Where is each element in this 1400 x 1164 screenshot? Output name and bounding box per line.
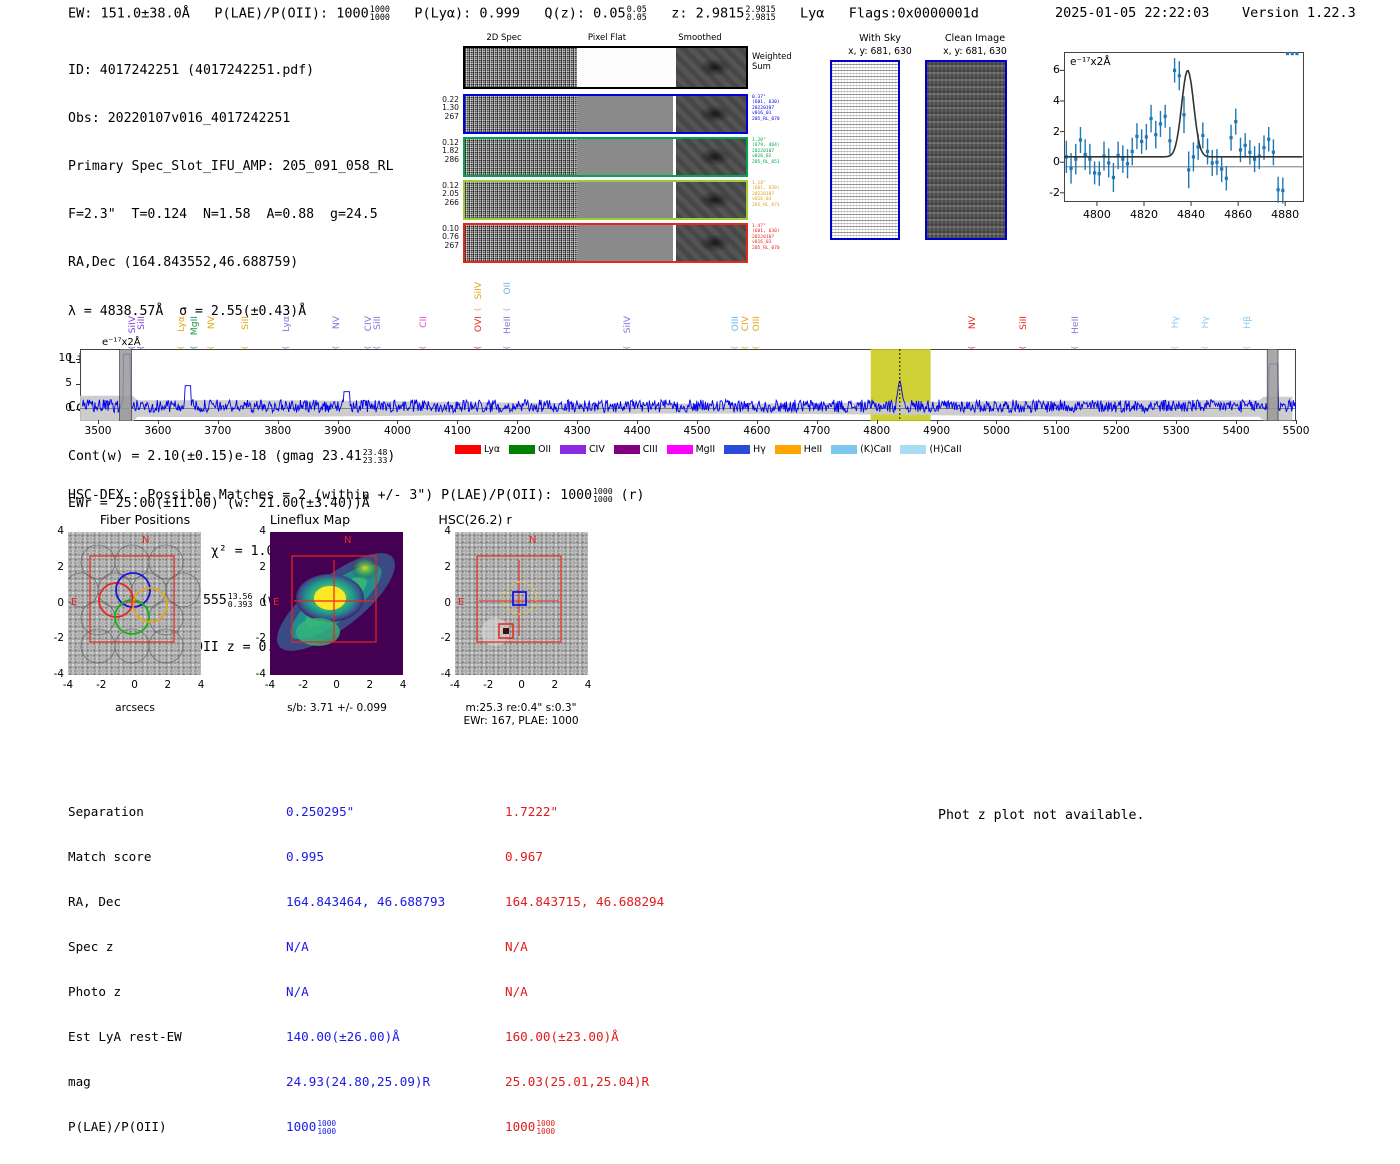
match-table-column-match2: 1.7222" 0.967 164.843715, 46.688294 N/A … (505, 774, 664, 1164)
fiber-positions-caption: arcsecs (35, 702, 235, 714)
legend-swatch (724, 445, 750, 454)
fullspec-xtick: 4500 (672, 425, 722, 437)
hsc-xtick: 2 (543, 679, 567, 691)
fullspec-ytick: 0 (40, 402, 72, 414)
emission-line-bracket: ( (502, 308, 511, 311)
emission-line-bracket: ( (502, 346, 511, 349)
emission-line-bracket: ( (473, 346, 482, 349)
emission-line-bracket: ( (473, 308, 482, 311)
fullspec-xtick: 5500 (1271, 425, 1321, 437)
legend-item: (K)CaII (831, 444, 891, 455)
emission-line-bracket: ( (331, 346, 340, 349)
emission-line-bracket: ( (189, 346, 198, 349)
fiber-positions-title: Fiber Positions (55, 512, 235, 527)
emission-line-label: HeII (1070, 316, 1081, 334)
emission-line-label: SiII (372, 316, 383, 330)
hsc-ytick: -4 (433, 668, 451, 680)
lineflux-compass-n: N (344, 535, 351, 546)
emission-line-bracket: ( (136, 346, 145, 349)
fullspec-xtick-mark (937, 420, 938, 424)
fullspec-xtick: 5000 (971, 425, 1021, 437)
fullspec-xtick-mark (1236, 420, 1237, 424)
hsc-panel-axes: -4-4-2-2002244-4-4-2-2002244-4-4-2-20022… (0, 0, 620, 240)
hsc-r-caption: m:25.3 re:0.4" s:0.3" (421, 702, 621, 714)
fullspec-xtick-mark (278, 420, 279, 424)
legend-item: Lyα (455, 444, 500, 455)
legend-item: MgII (667, 444, 716, 455)
emission-line-label: OIII (751, 316, 762, 331)
legend-swatch (831, 445, 857, 454)
fullspec-xtick-mark (1116, 420, 1117, 424)
fullspec-xtick-mark (637, 420, 638, 424)
hsc-ytick: 2 (248, 561, 266, 573)
legend-label: Lyα (484, 444, 500, 455)
legend-swatch (667, 445, 693, 454)
spectrum-legend: LyαOIICIVCIIIMgIIHγHeII(K)CaII(H)CaII (455, 444, 962, 455)
emission-line-label: CIV (740, 316, 751, 331)
lineflux-map-image[interactable] (270, 532, 403, 675)
hsc-xtick: 4 (189, 679, 213, 691)
legend-label: HeII (804, 444, 822, 455)
hsc-r-image[interactable] (455, 532, 588, 675)
hsc-xtick: 2 (156, 679, 180, 691)
legend-swatch (509, 445, 535, 454)
emission-line-bracket: ( (363, 346, 372, 349)
emission-line-bracket: ( (127, 346, 136, 349)
fullspec-xtick: 5300 (1151, 425, 1201, 437)
emission-line-bracket: ( (1070, 346, 1079, 349)
hsc-r-caption2: EWr: 167, PLAE: 1000 (421, 715, 621, 727)
legend-label: OII (538, 444, 551, 455)
hsc-xtick: -2 (291, 679, 315, 691)
hsc-xtick: -2 (476, 679, 500, 691)
emission-line-bracket: ( (206, 346, 215, 349)
emission-line-label: SiII (136, 316, 147, 330)
fullspec-xtick: 5200 (1091, 425, 1141, 437)
fullspec-xtick: 3500 (73, 425, 123, 437)
lineflux-map-caption: s/b: 3.71 +/- 0.099 (237, 702, 437, 714)
hsc-xtick: 0 (325, 679, 349, 691)
fullspec-xtick: 4800 (852, 425, 902, 437)
fullspec-xtick: 4200 (492, 425, 542, 437)
hsc-compass-n: N (529, 535, 536, 546)
fiber-compass-e: E (71, 597, 77, 608)
legend-swatch (455, 445, 481, 454)
legend-item: HeII (775, 444, 822, 455)
hsc-ytick: 4 (433, 525, 451, 537)
emission-line-label: SiII (240, 316, 251, 330)
fiber-compass-n: N (142, 535, 149, 546)
hsc-ytick: -2 (46, 632, 64, 644)
fullspec-ytick: 5 (40, 377, 72, 389)
hsc-xtick: -4 (258, 679, 282, 691)
info-cont-w: Cont(w) = 2.10(±0.15)e-18 (gmag 23.4123.… (68, 448, 395, 464)
fullspec-xtick-mark (1176, 420, 1177, 424)
fullspec-xtick-mark (338, 420, 339, 424)
emission-line-bracket: ( (622, 346, 631, 349)
fullspec-xtick-mark (877, 420, 878, 424)
fullspec-xtick-mark (1056, 420, 1057, 424)
legend-swatch (614, 445, 640, 454)
fullspec-xtick: 3700 (193, 425, 243, 437)
emission-line-label: Hγ (1200, 316, 1211, 328)
emission-line-label: Lyα (176, 316, 187, 332)
emission-line-label: Hβ (1242, 316, 1253, 329)
legend-label: CIII (643, 444, 658, 455)
legend-item: (H)CaII (900, 444, 961, 455)
emission-line-bracket: ( (967, 346, 976, 349)
legend-label: Hγ (753, 444, 766, 455)
emission-line-bracket: ( (418, 346, 427, 349)
fullspec-xtick-mark (218, 420, 219, 424)
hsc-xtick: 4 (576, 679, 600, 691)
hsc-ytick: 0 (46, 597, 64, 609)
emission-line-bracket: ( (281, 346, 290, 349)
emission-line-bracket: ( (240, 346, 249, 349)
fullspec-xtick-mark (817, 420, 818, 424)
hsc-dex-header: HSC-DEX : Possible Matches = 2 (within +… (68, 487, 644, 503)
fullspec-xtick: 4400 (612, 425, 662, 437)
fullspec-xtick-mark (757, 420, 758, 424)
hsc-ytick: 2 (433, 561, 451, 573)
fullspec-xtick: 5100 (1031, 425, 1081, 437)
fullspec-xtick-mark (397, 420, 398, 424)
emission-line-label: HeII (502, 316, 513, 334)
fullspec-xtick-mark (457, 420, 458, 424)
legend-item: Hγ (724, 444, 766, 455)
fullspec-xtick-mark (517, 420, 518, 424)
fullspec-xtick-mark (158, 420, 159, 424)
fullspec-xtick-mark (577, 420, 578, 424)
emission-line-bracket: ( (1242, 346, 1251, 349)
fullspec-ytick-mark (76, 409, 80, 410)
hsc-compass-e: E (458, 597, 464, 608)
emission-line-label: Hγ (1170, 316, 1181, 328)
fullspec-xtick: 5400 (1211, 425, 1261, 437)
legend-swatch (775, 445, 801, 454)
hsc-xtick: 2 (358, 679, 382, 691)
hsc-ytick: -2 (433, 632, 451, 644)
emission-line-bracket: ( (372, 346, 381, 349)
emission-line-label: NV (206, 316, 217, 329)
fullspec-xtick: 4600 (732, 425, 782, 437)
emission-line-bracket: ( (730, 346, 739, 349)
lineflux-compass-e: E (273, 597, 279, 608)
hsc-xtick: 0 (123, 679, 147, 691)
fullspec-ytick-mark (76, 384, 80, 385)
hsc-r-title: HSC(26.2) r (385, 512, 565, 527)
emission-line-bracket: ( (1200, 346, 1209, 349)
emission-line-label: SiII (1018, 316, 1029, 330)
emission-line-bracket: ( (1018, 346, 1027, 349)
fullspec-xtick: 4900 (912, 425, 962, 437)
emission-line-label: NV (331, 316, 342, 329)
hsc-xtick: -4 (443, 679, 467, 691)
legend-label: (K)CaII (860, 444, 891, 455)
emission-line-bracket: ( (1170, 346, 1179, 349)
hsc-xtick: 4 (391, 679, 415, 691)
legend-item: OII (509, 444, 551, 455)
legend-label: (H)CaII (929, 444, 961, 455)
hsc-ytick: 0 (248, 597, 266, 609)
fullspec-xtick-mark (697, 420, 698, 424)
hsc-xtick: 0 (510, 679, 534, 691)
emission-line-label: CII (418, 316, 429, 328)
fullspec-xtick-mark (1296, 420, 1297, 424)
emission-line-bracket: ( (740, 346, 749, 349)
fullspec-xtick: 4300 (552, 425, 602, 437)
fullspec-xtick-mark (98, 420, 99, 424)
emission-line-label: NV (967, 316, 978, 329)
hsc-xtick: -4 (56, 679, 80, 691)
fullspec-xtick: 3900 (313, 425, 363, 437)
emission-line-label: MgII (189, 316, 200, 335)
fiber-positions-image[interactable] (68, 532, 201, 675)
emission-line-label: OII (502, 282, 513, 295)
fullspec-xtick: 4700 (792, 425, 842, 437)
match-table-column-match1: 0.250295" 0.995 164.843464, 46.688793 N/… (286, 774, 445, 1164)
legend-label: CIV (589, 444, 605, 455)
hsc-ytick: 4 (248, 525, 266, 537)
match-table-labels: Separation Match score RA, Dec Spec z Ph… (68, 774, 182, 1164)
fullspec-xtick: 3800 (253, 425, 303, 437)
legend-label: MgII (696, 444, 716, 455)
legend-swatch (560, 445, 586, 454)
hsc-ytick: 0 (433, 597, 451, 609)
lineflux-map-title: Lineflux Map (220, 512, 400, 527)
photz-message: Phot z plot not available. (938, 808, 1144, 823)
hsc-xtick: -2 (89, 679, 113, 691)
emission-line-label: SiIV (622, 316, 633, 333)
emission-line-label: Lyα (281, 316, 292, 332)
fullspec-xtick-mark (996, 420, 997, 424)
fullspec-xtick: 3600 (133, 425, 183, 437)
legend-item: CIII (614, 444, 658, 455)
fullspec-xtick: 4000 (372, 425, 422, 437)
legend-swatch (900, 445, 926, 454)
hsc-ytick: 4 (46, 525, 64, 537)
emission-line-bracket: ( (176, 346, 185, 349)
hsc-ytick: -4 (46, 668, 64, 680)
emission-line-label: SiIV (473, 282, 484, 299)
emission-line-bracket: ( (751, 346, 760, 349)
hsc-ytick: -2 (248, 632, 266, 644)
fullspec-xtick: 4100 (432, 425, 482, 437)
legend-item: CIV (560, 444, 605, 455)
fullspec-x-axis: 3500360037003800390040004100420043004400… (80, 423, 1296, 443)
emission-line-label: OVI (473, 316, 484, 332)
hsc-ytick: -4 (248, 668, 266, 680)
hsc-ytick: 2 (46, 561, 64, 573)
